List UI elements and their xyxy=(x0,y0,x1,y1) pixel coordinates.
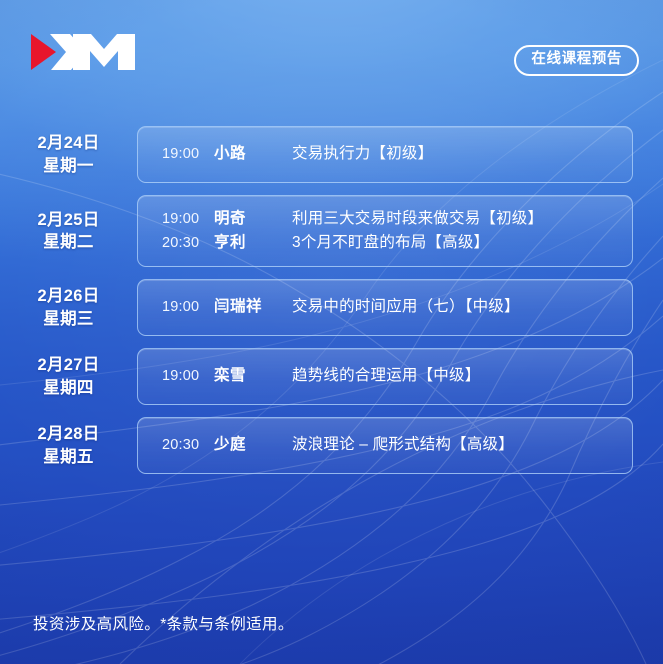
session-speaker: 亨利 xyxy=(214,231,292,255)
session-item: 19:00 小路 交易执行力【初级】 xyxy=(138,142,632,166)
session-item: 20:30 少庭 波浪理论 – 爬形式结构【高级】 xyxy=(138,433,632,457)
date-text: 2月27日 xyxy=(37,356,99,374)
date-text: 2月24日 xyxy=(37,134,99,152)
risk-disclaimer: 投资涉及高风险。*条款与条例适用。 xyxy=(33,612,294,634)
date-label: 2月26日 星期三 xyxy=(0,285,137,330)
online-course-preview-badge[interactable]: 在线课程预告 xyxy=(514,45,639,76)
session-item: 19:00 栾雪 趋势线的合理运用【中级】 xyxy=(138,364,632,388)
session-time: 20:30 xyxy=(138,434,214,456)
session-card[interactable]: 19:00 小路 交易执行力【初级】 xyxy=(137,126,633,183)
session-time: 20:30 xyxy=(138,232,214,254)
date-text: 2月28日 xyxy=(37,425,99,443)
schedule-row: 2月25日 星期二 19:00 明奇 利用三大交易时段来做交易【初级】 20:3… xyxy=(0,195,663,267)
session-topic: 交易执行力【初级】 xyxy=(292,142,632,166)
session-topic: 趋势线的合理运用【中级】 xyxy=(292,364,632,388)
session-item: 19:00 明奇 利用三大交易时段来做交易【初级】 xyxy=(138,207,632,231)
date-label: 2月24日 星期一 xyxy=(0,132,137,177)
session-card[interactable]: 19:00 栾雪 趋势线的合理运用【中级】 xyxy=(137,348,633,405)
session-topic: 3个月不盯盘的布局【高级】 xyxy=(292,231,632,255)
session-time: 19:00 xyxy=(138,365,214,387)
schedule-row: 2月24日 星期一 19:00 小路 交易执行力【初级】 xyxy=(0,126,663,183)
session-topic: 波浪理论 – 爬形式结构【高级】 xyxy=(292,433,632,457)
schedule-row: 2月28日 星期五 20:30 少庭 波浪理论 – 爬形式结构【高级】 xyxy=(0,417,663,474)
date-label: 2月28日 星期五 xyxy=(0,423,137,468)
session-card[interactable]: 20:30 少庭 波浪理论 – 爬形式结构【高级】 xyxy=(137,417,633,474)
session-speaker: 小路 xyxy=(214,142,292,166)
session-card[interactable]: 19:00 闫瑞祥 交易中的时间应用（七）【中级】 xyxy=(137,279,633,336)
session-item: 20:30 亨利 3个月不盯盘的布局【高级】 xyxy=(138,231,632,255)
weekday-text: 星期四 xyxy=(0,377,137,399)
session-time: 19:00 xyxy=(138,296,214,318)
session-speaker: 闫瑞祥 xyxy=(214,295,292,319)
date-text: 2月25日 xyxy=(37,211,99,229)
schedule-row: 2月26日 星期三 19:00 闫瑞祥 交易中的时间应用（七）【中级】 xyxy=(0,279,663,336)
schedule-list: 2月24日 星期一 19:00 小路 交易执行力【初级】 2月25日 星期二 1… xyxy=(0,126,663,486)
xm-arrow-logo-icon xyxy=(29,29,153,75)
session-time: 19:00 xyxy=(138,143,214,165)
weekday-text: 星期一 xyxy=(0,155,137,177)
session-topic: 利用三大交易时段来做交易【初级】 xyxy=(292,207,632,231)
session-card[interactable]: 19:00 明奇 利用三大交易时段来做交易【初级】 20:30 亨利 3个月不盯… xyxy=(137,195,633,267)
session-item: 19:00 闫瑞祥 交易中的时间应用（七）【中级】 xyxy=(138,295,632,319)
date-label: 2月25日 星期二 xyxy=(0,209,137,254)
session-time: 19:00 xyxy=(138,208,214,230)
promo-poster: 在线课程预告 2月24日 星期一 19:00 小路 交易执行力【初级】 2月25… xyxy=(0,0,663,664)
session-speaker: 少庭 xyxy=(214,433,292,457)
schedule-row: 2月27日 星期四 19:00 栾雪 趋势线的合理运用【中级】 xyxy=(0,348,663,405)
weekday-text: 星期二 xyxy=(0,231,137,253)
weekday-text: 星期五 xyxy=(0,446,137,468)
session-speaker: 栾雪 xyxy=(214,364,292,388)
xm-logo xyxy=(29,28,153,76)
weekday-text: 星期三 xyxy=(0,308,137,330)
session-topic: 交易中的时间应用（七）【中级】 xyxy=(292,295,632,319)
poster-header: 在线课程预告 xyxy=(0,0,663,108)
session-speaker: 明奇 xyxy=(214,207,292,231)
date-label: 2月27日 星期四 xyxy=(0,354,137,399)
date-text: 2月26日 xyxy=(37,287,99,305)
